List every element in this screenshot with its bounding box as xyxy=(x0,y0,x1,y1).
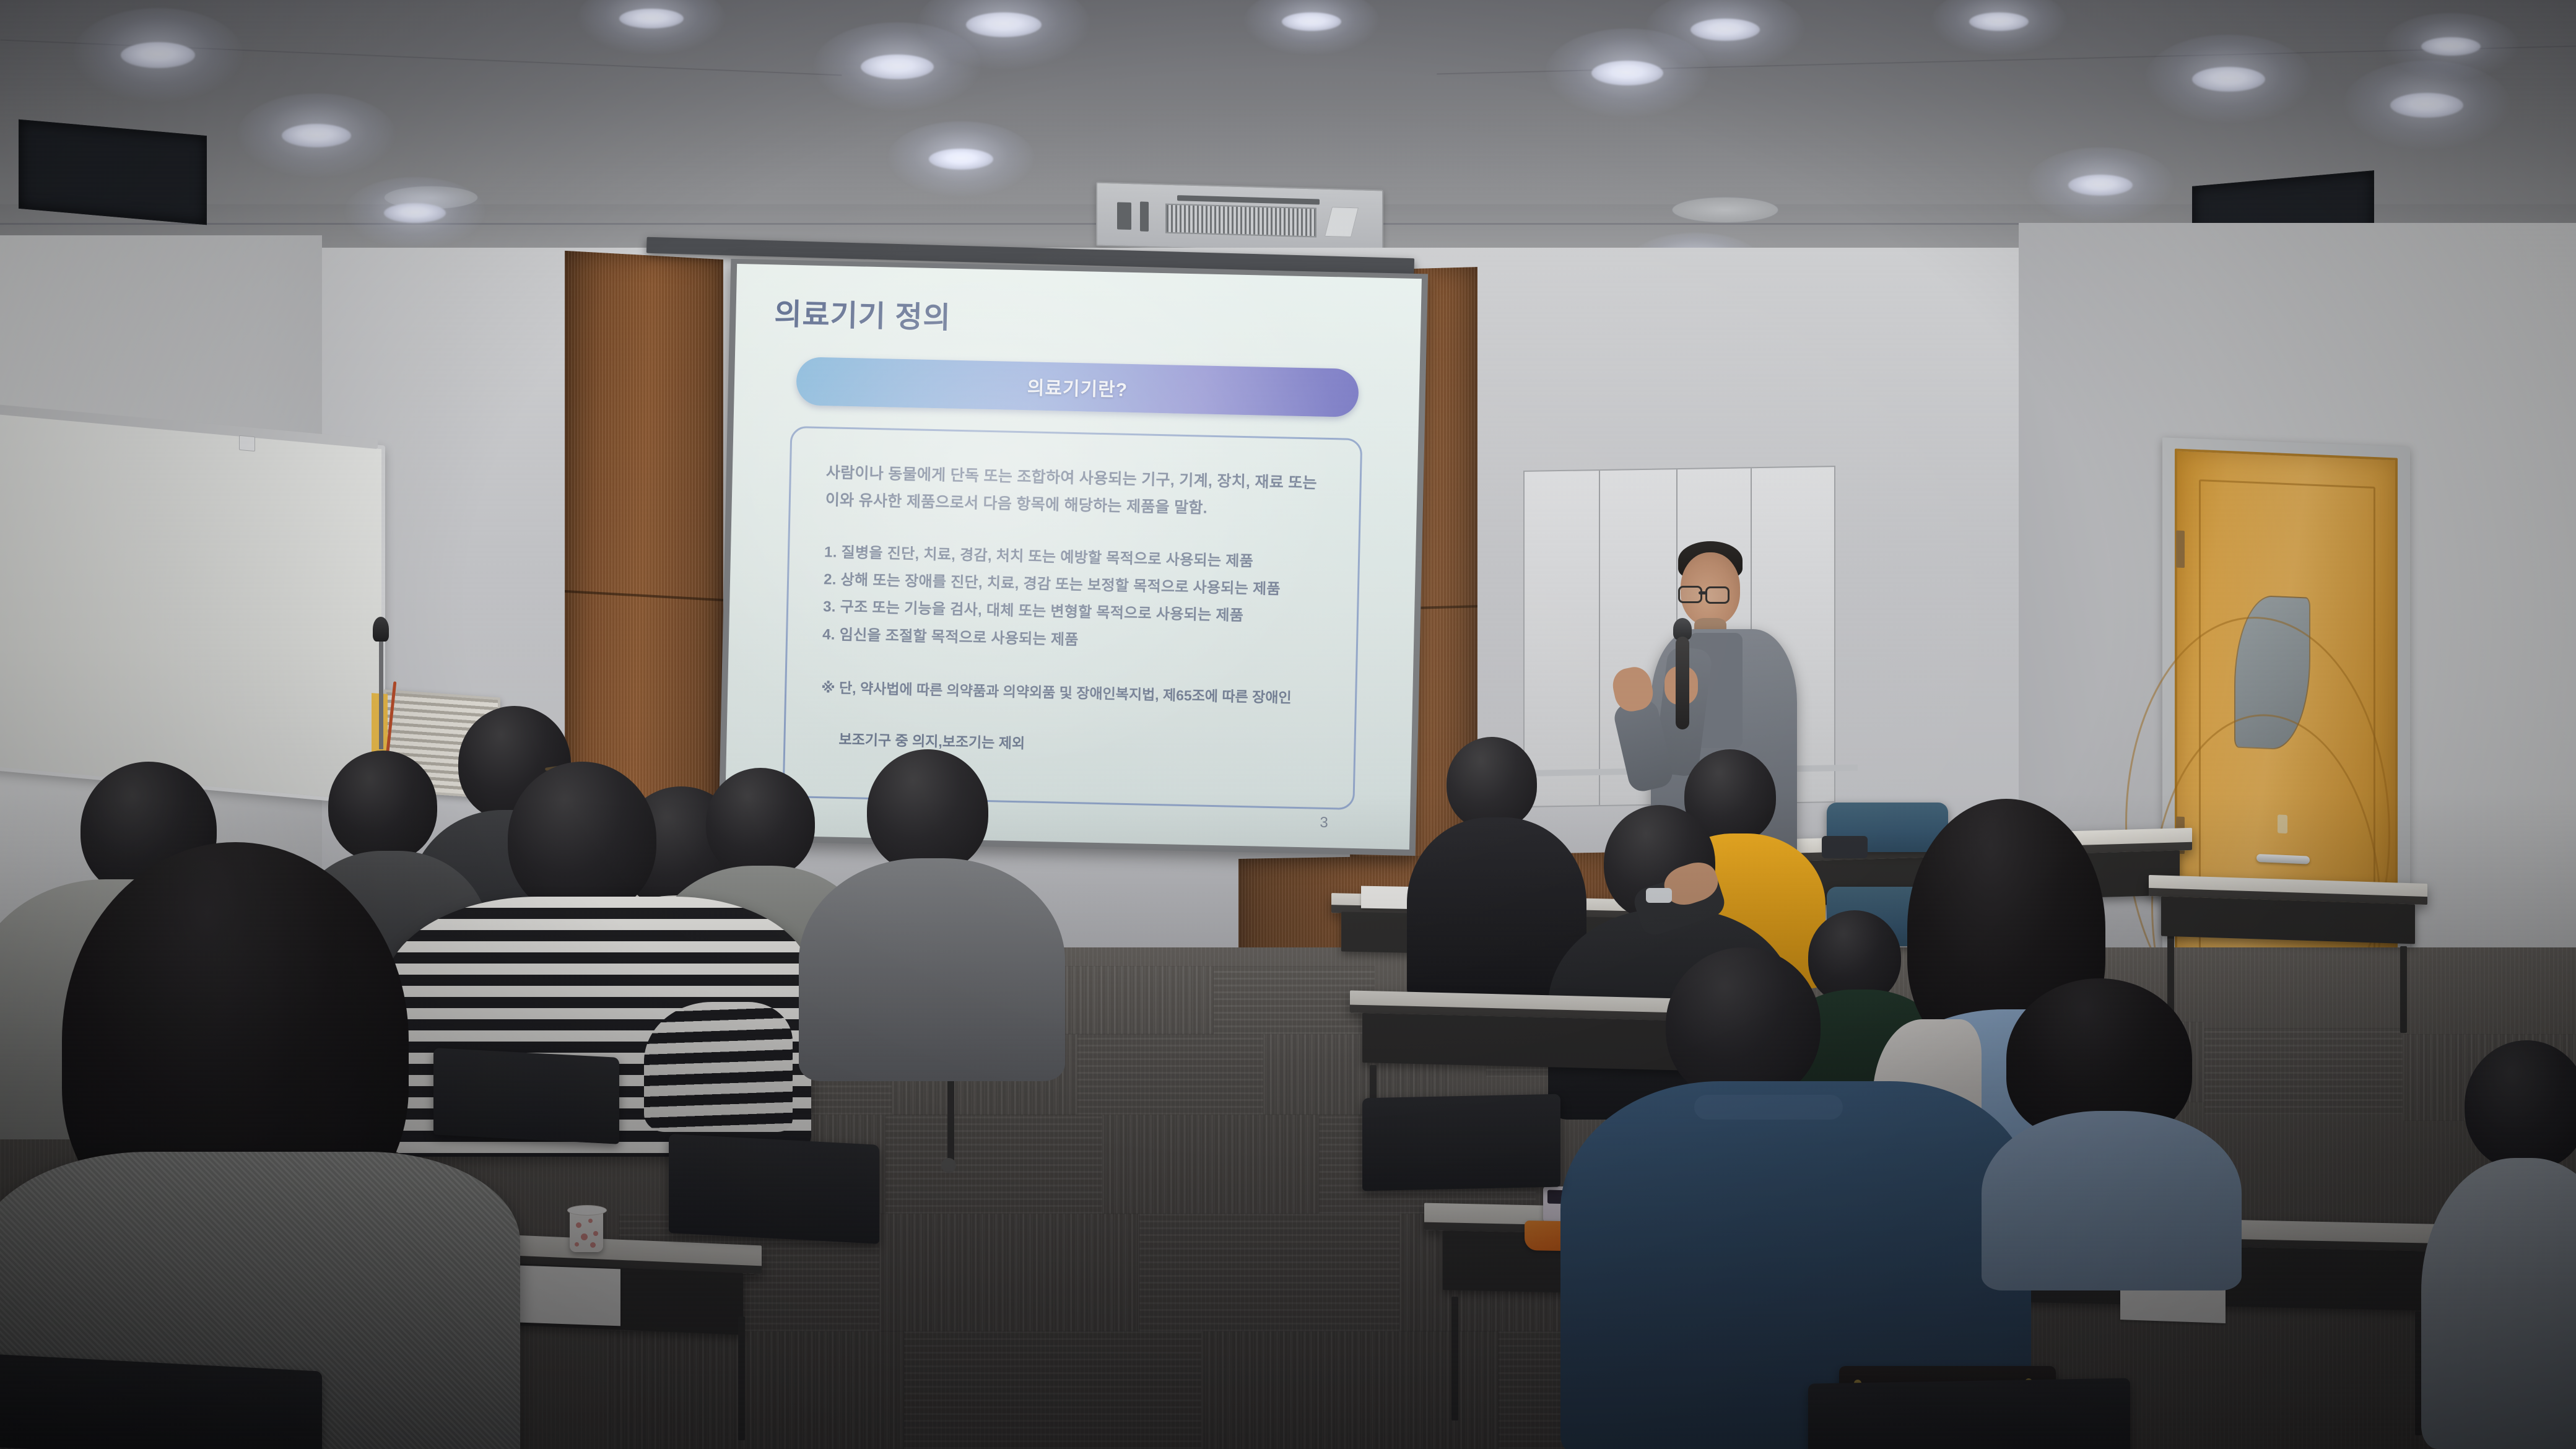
desk-leg xyxy=(2400,946,2407,1033)
slide-banner-text: 의료기기란? xyxy=(1027,372,1128,402)
ceiling-downlight xyxy=(1969,12,2029,31)
ceiling-downlight xyxy=(2068,175,2133,196)
cup-dot xyxy=(576,1222,581,1228)
cup-dot xyxy=(588,1219,593,1223)
ceiling-downlight xyxy=(861,54,934,79)
ac-vane xyxy=(1325,207,1359,237)
item-on-back-desk xyxy=(1822,836,1868,858)
presenter-glasses-icon xyxy=(1678,586,1730,601)
ac-grille xyxy=(1165,204,1316,238)
desk-caster xyxy=(941,1158,956,1173)
ac-slot xyxy=(1117,202,1131,230)
microphone-stand-head[interactable] xyxy=(373,617,389,642)
ceiling-downlight xyxy=(1690,19,1760,41)
glasses-bridge xyxy=(1699,591,1707,594)
ceiling-downlight xyxy=(966,12,1042,37)
cup-dot xyxy=(590,1242,596,1248)
chair-back-left-1[interactable] xyxy=(433,1048,619,1144)
ceiling-downlight xyxy=(282,124,351,147)
ceiling-downlight xyxy=(619,9,684,28)
carpet-tile xyxy=(1053,966,1214,1034)
carpet-tile xyxy=(1102,1115,1319,1214)
carpet-tile xyxy=(2204,1028,2403,1115)
attendee-grey-tweed-jacket xyxy=(12,842,545,1449)
carpet-tile xyxy=(1077,1034,1263,1115)
ceiling-vent xyxy=(1672,197,1778,223)
ac-slot xyxy=(1140,202,1149,232)
ceiling-downlight xyxy=(929,149,993,170)
slide-note-line-1: ※ 단, 약사법에 따른 의약품과 의약외품 및 장애인복지법, 제65조에 따… xyxy=(821,676,1321,711)
carpet-tile xyxy=(607,1331,904,1449)
cup-dot xyxy=(593,1231,598,1236)
ceiling-speaker-left xyxy=(19,120,207,225)
ceiling-ac-unit xyxy=(1096,182,1383,255)
slide-banner: 의료기기란? xyxy=(796,357,1359,417)
ceiling-downlight xyxy=(2192,67,2265,92)
ceiling-downlight xyxy=(2390,93,2463,118)
denim-collar xyxy=(1694,1095,1843,1120)
whiteboard[interactable] xyxy=(0,409,385,806)
carpet-tile xyxy=(1139,1214,1399,1331)
glasses-lens-left xyxy=(1678,586,1702,603)
ceiling-downlight xyxy=(2421,37,2481,56)
attendee-head xyxy=(2465,1040,2576,1170)
attendee-body xyxy=(799,858,1065,1081)
chair-back-right-2[interactable] xyxy=(1808,1378,2130,1449)
desk-leg xyxy=(738,1316,745,1440)
paper-cup[interactable] xyxy=(570,1209,603,1252)
carpet-tile xyxy=(879,1214,1139,1331)
chair-back-left-2[interactable] xyxy=(669,1134,879,1244)
ceiling-downlight xyxy=(384,203,446,223)
desk-leg xyxy=(1451,1297,1458,1421)
microphone-stand-pole[interactable] xyxy=(379,638,383,749)
whiteboard-clip[interactable] xyxy=(239,435,255,451)
attendee-body xyxy=(1982,1111,2242,1290)
slide-numbered-list: 1. 질병을 진단, 치료, 경감, 처치 또는 예방할 목적으로 사용되는 제… xyxy=(822,539,1324,659)
ceiling-downlight xyxy=(1591,61,1663,85)
attendee-striped-arm xyxy=(644,1002,793,1132)
ceiling-downlight xyxy=(121,42,195,68)
handheld-microphone[interactable] xyxy=(1676,637,1689,729)
seminar-room-photo: 의료기기 정의 의료기기란? 사람이나 동물에게 단독 또는 조합하여 사용되는… xyxy=(0,0,2576,1449)
slide-page-number: 3 xyxy=(1320,814,1328,832)
carpet-tile xyxy=(885,1115,1102,1214)
paper-cup-rim xyxy=(567,1205,607,1216)
slide-title: 의료기기 정의 xyxy=(774,289,1386,346)
carpet-tile xyxy=(904,1331,1201,1449)
attendee-head xyxy=(867,749,988,873)
chair-back-right-1[interactable] xyxy=(1362,1094,1560,1191)
cup-dot xyxy=(575,1242,579,1247)
door-lock[interactable] xyxy=(2278,814,2287,833)
glasses-lens-right xyxy=(1705,586,1730,604)
far-right-desk-modesty xyxy=(2161,897,2415,944)
ac-slot xyxy=(1177,195,1320,204)
attendee-head xyxy=(1447,737,1537,830)
wristwatch xyxy=(1646,888,1672,903)
slide-content-box: 사람이나 동물에게 단독 또는 조합하여 사용되는 기구, 기계, 장치, 재료… xyxy=(782,426,1362,810)
attendee-head xyxy=(1666,947,1821,1102)
slide-paragraph: 사람이나 동물에게 단독 또는 조합하여 사용되는 기구, 기계, 장치, 재료… xyxy=(825,459,1325,524)
ceiling-downlight xyxy=(1282,12,1341,31)
door-hinge xyxy=(2176,531,2185,568)
slide-note-line-2: 보조기구 중 의지,보조기는 제외 xyxy=(820,727,1320,762)
cup-dot xyxy=(581,1234,588,1240)
